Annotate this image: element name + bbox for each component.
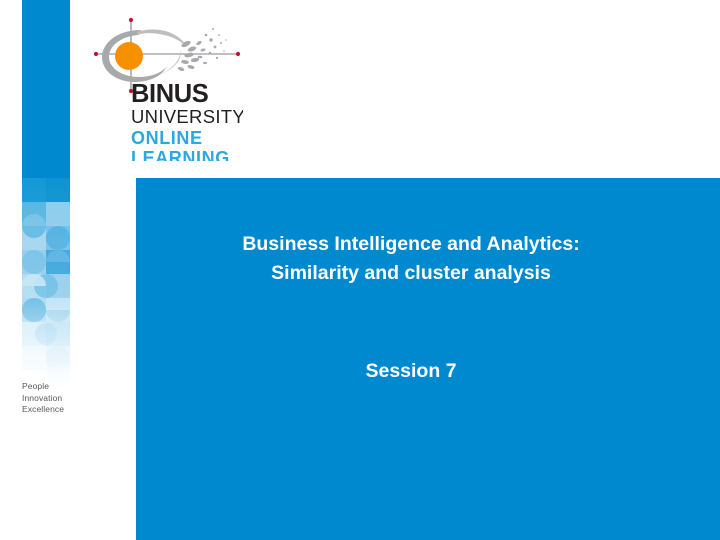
svg-text:UNIVERSITY: UNIVERSITY (131, 106, 243, 127)
tagline-line-1: People (22, 381, 92, 393)
tagline-line-3: Excellence (22, 404, 92, 416)
sidebar-decoration (22, 0, 70, 390)
slide-title-line-2: Similarity and cluster analysis (136, 259, 686, 288)
title-panel: Business Intelligence and Analytics: Sim… (136, 178, 720, 540)
svg-text:LEARNING: LEARNING (131, 148, 230, 161)
tagline: People Innovation Excellence (22, 381, 92, 416)
svg-text:BINUS: BINUS (131, 80, 209, 108)
slide-canvas: People Innovation Excellence (0, 0, 720, 540)
binus-logo: BINUS UNIVERSITY ONLINE LEARNING (93, 16, 243, 161)
slide-title-line-1: Business Intelligence and Analytics: (136, 230, 686, 259)
session-label: Session 7 (136, 360, 686, 383)
orange-dot (115, 42, 143, 70)
sidebar-circle-pattern (22, 178, 70, 390)
svg-text:ONLINE: ONLINE (131, 128, 203, 148)
sidebar-solid-bar (22, 0, 70, 180)
tagline-line-2: Innovation (22, 393, 92, 405)
slide-title: Business Intelligence and Analytics: Sim… (136, 230, 686, 288)
